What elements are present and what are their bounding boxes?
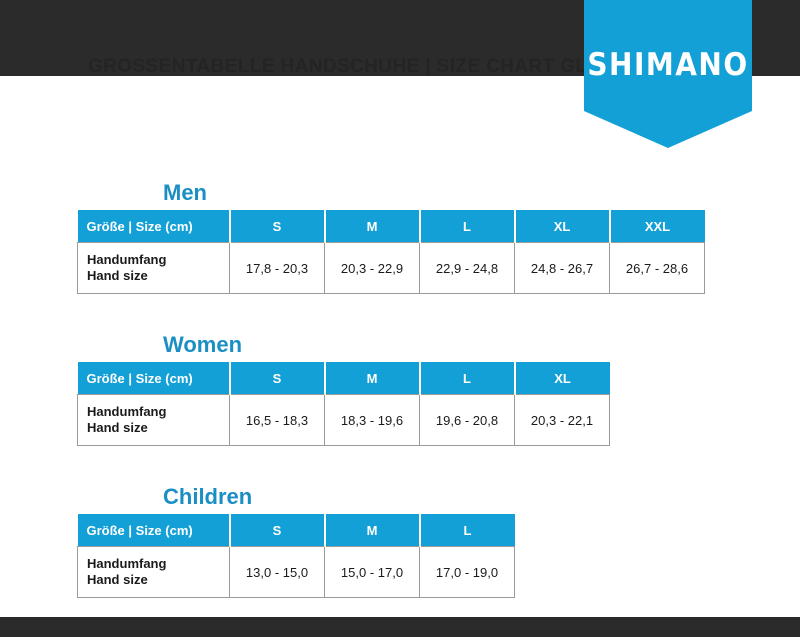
row-label-de: Handumfang [87, 404, 229, 420]
column-header-size: L [420, 362, 515, 395]
column-header-label: Größe | Size (cm) [78, 362, 230, 395]
column-header-size: S [230, 362, 325, 395]
hand-size-cell: 26,7 - 28,6 [610, 243, 705, 294]
size-table: Größe | Size (cm)SMLXLHandumfangHand siz… [77, 362, 610, 446]
table-row: HandumfangHand size17,8 - 20,320,3 - 22,… [78, 243, 705, 294]
size-section-men: MenGröße | Size (cm)SMLXLXXLHandumfangHa… [77, 210, 705, 294]
hand-size-cell: 19,6 - 20,8 [420, 395, 515, 446]
column-header-label: Größe | Size (cm) [78, 514, 230, 547]
row-label-de: Handumfang [87, 556, 229, 572]
hand-size-cell: 20,3 - 22,1 [515, 395, 610, 446]
size-table: Größe | Size (cm)SMLHandumfangHand size1… [77, 514, 515, 598]
column-header-size: M [325, 362, 420, 395]
hand-size-cell: 22,9 - 24,8 [420, 243, 515, 294]
table-header-row: Größe | Size (cm)SMLXL [78, 362, 610, 395]
hand-size-cell: 24,8 - 26,7 [515, 243, 610, 294]
hand-size-cell: 18,3 - 19,6 [325, 395, 420, 446]
hand-size-cell: 16,5 - 18,3 [230, 395, 325, 446]
column-header-label: Größe | Size (cm) [78, 210, 230, 243]
row-label: HandumfangHand size [78, 395, 230, 446]
column-header-size: S [230, 210, 325, 243]
row-label: HandumfangHand size [78, 243, 230, 294]
row-label: HandumfangHand size [78, 547, 230, 598]
shimano-wordmark: SHIMANO [584, 46, 752, 83]
section-title: Women [163, 332, 242, 358]
column-header-size: M [325, 514, 420, 547]
row-label-en: Hand size [87, 572, 229, 588]
table-header-row: Größe | Size (cm)SML [78, 514, 515, 547]
table-row: HandumfangHand size13,0 - 15,015,0 - 17,… [78, 547, 515, 598]
section-title: Children [163, 484, 252, 510]
page-title: GRÖSSENTABELLE HANDSCHUHE | SIZE CHART G… [88, 58, 642, 76]
column-header-size: XL [515, 362, 610, 395]
hand-size-cell: 17,8 - 20,3 [230, 243, 325, 294]
size-section-women: WomenGröße | Size (cm)SMLXLHandumfangHan… [77, 362, 610, 446]
row-label-en: Hand size [87, 420, 229, 436]
column-header-size: XL [515, 210, 610, 243]
size-section-children: ChildrenGröße | Size (cm)SMLHandumfangHa… [77, 514, 515, 598]
footer-bar [0, 617, 800, 637]
hand-size-cell: 17,0 - 19,0 [420, 547, 515, 598]
table-header-row: Größe | Size (cm)SMLXLXXL [78, 210, 705, 243]
shimano-logo-banner: SHIMANO [584, 0, 752, 148]
column-header-size: S [230, 514, 325, 547]
section-title: Men [163, 180, 207, 206]
column-header-size: M [325, 210, 420, 243]
hand-size-cell: 15,0 - 17,0 [325, 547, 420, 598]
hand-size-cell: 20,3 - 22,9 [325, 243, 420, 294]
column-header-size: XXL [610, 210, 705, 243]
row-label-de: Handumfang [87, 252, 229, 268]
column-header-size: L [420, 210, 515, 243]
row-label-en: Hand size [87, 268, 229, 284]
size-table: Größe | Size (cm)SMLXLXXLHandumfangHand … [77, 210, 705, 294]
column-header-size: L [420, 514, 515, 547]
table-row: HandumfangHand size16,5 - 18,318,3 - 19,… [78, 395, 610, 446]
hand-size-cell: 13,0 - 15,0 [230, 547, 325, 598]
